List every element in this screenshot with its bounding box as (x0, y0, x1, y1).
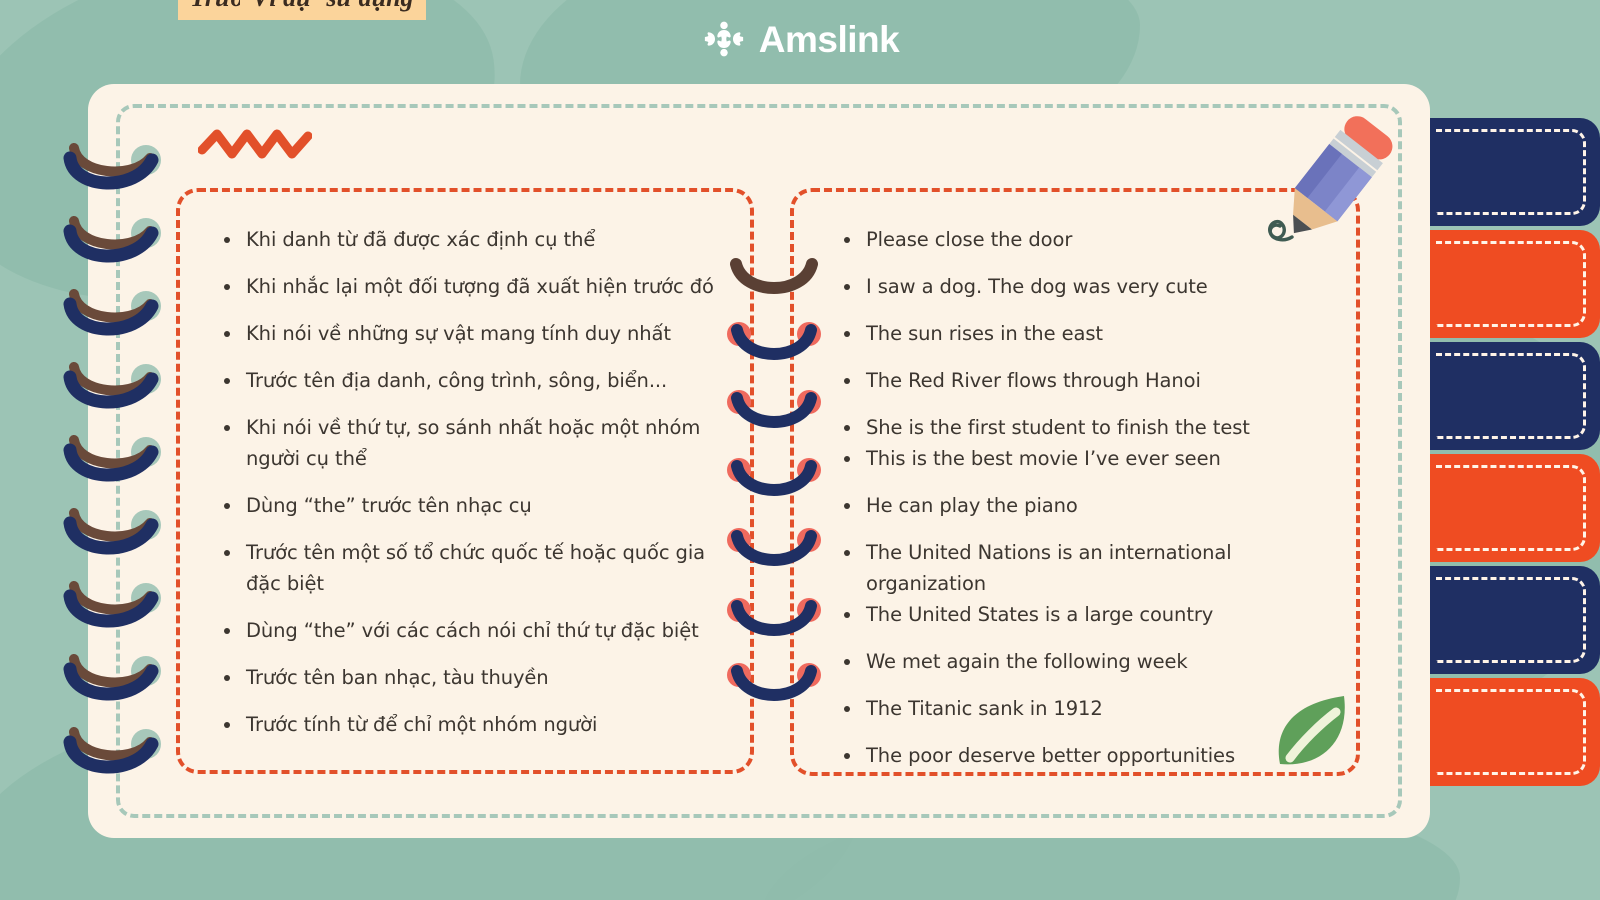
list-item: The Red River flows through Hanoi (840, 365, 1352, 396)
list-item: We met again the following week (840, 646, 1352, 677)
spiral-ring (62, 359, 166, 421)
side-tab-1[interactable] (1424, 118, 1600, 226)
side-tab-dashed-inner (1436, 465, 1586, 551)
spiral-ring (728, 390, 820, 438)
slide-canvas: Amslink Trường hợp sử dụng Ví dụ Khi dan… (0, 0, 1600, 900)
use-case-list: Khi danh từ đã được xác định cụ thểKhi n… (220, 224, 732, 740)
spiral-ring (62, 651, 166, 713)
list-item: Dùng “the” với các cách nói chỉ thứ tự đ… (220, 615, 732, 646)
side-tab-dashed-inner (1436, 577, 1586, 663)
list-item: The sun rises in the east (840, 318, 1352, 349)
list-item: He can play the piano (840, 490, 1352, 521)
list-item: This is the best movie I’ve ever seen (840, 443, 1352, 474)
list-item: Trước tên một số tổ chức quốc tế hoặc qu… (220, 537, 732, 599)
side-tab-4[interactable] (1424, 454, 1600, 562)
spiral-ring (62, 140, 166, 202)
side-tab-dashed-inner (1436, 689, 1586, 775)
spiral-ring (62, 286, 166, 348)
people-star-icon (701, 16, 747, 62)
list-item: The poor deserve better opportunities (840, 740, 1352, 771)
list-item: Trước tính từ để chỉ một nhóm người (220, 709, 732, 740)
list-item: The United Nations is an international o… (840, 537, 1352, 599)
brand-logo: Amslink (0, 16, 1600, 62)
side-tab-2[interactable] (1424, 230, 1600, 338)
spiral-ring (728, 258, 820, 306)
spiral-ring (62, 724, 166, 786)
spiral-ring (728, 663, 820, 711)
list-item: The Titanic sank in 1912 (840, 693, 1352, 724)
spiral-ring (62, 432, 166, 494)
list-item: Khi nói về thứ tự, so sánh nhất hoặc một… (220, 412, 732, 474)
list-item: Khi danh từ đã được xác định cụ thể (220, 224, 732, 255)
side-tab-5[interactable] (1424, 566, 1600, 674)
list-item: Trước tên ban nhạc, tàu thuyền (220, 662, 732, 693)
spiral-ring (728, 528, 820, 576)
list-item: Trước tên địa danh, công trình, sông, bi… (220, 365, 732, 396)
spiral-ring (728, 598, 820, 646)
list-item: The United States is a large country (840, 599, 1352, 630)
spiral-ring (62, 505, 166, 567)
list-item: She is the first student to finish the t… (840, 412, 1352, 443)
side-tab-6[interactable] (1424, 678, 1600, 786)
spiral-ring (62, 578, 166, 640)
list-item: I saw a dog. The dog was very cute (840, 271, 1352, 302)
list-item: Please close the door (840, 224, 1352, 255)
list-item: Khi nói về những sự vật mang tính duy nh… (220, 318, 732, 349)
side-tab-3[interactable] (1424, 342, 1600, 450)
side-tab-dashed-inner (1436, 129, 1586, 215)
spiral-ring (728, 458, 820, 506)
list-item: Dùng “the” trước tên nhạc cụ (220, 490, 732, 521)
spiral-ring (728, 322, 820, 370)
list-item: Khi nhắc lại một đối tượng đã xuất hiện … (220, 271, 732, 302)
side-tab-dashed-inner (1436, 353, 1586, 439)
side-tab-dashed-inner (1436, 241, 1586, 327)
example-list: Please close the doorI saw a dog. The do… (840, 224, 1352, 771)
brand-name: Amslink (759, 21, 899, 58)
spiral-ring (62, 213, 166, 275)
